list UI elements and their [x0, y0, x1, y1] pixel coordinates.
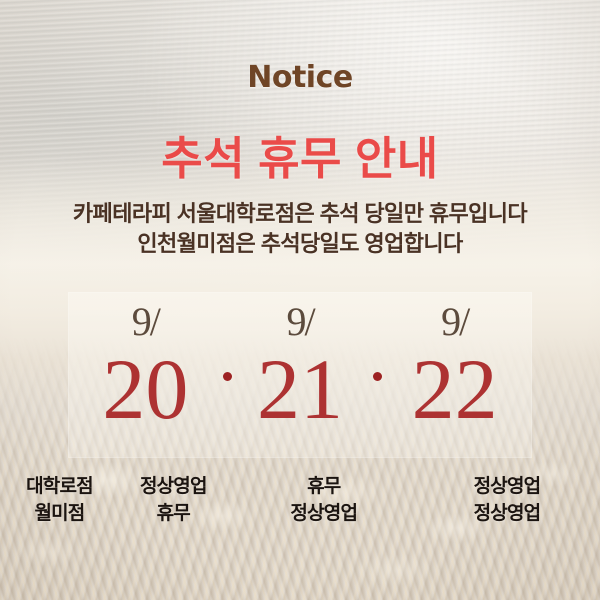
notice-poster: Notice 추석 휴무 안내 카페테라피 서울대학로점은 추석 당일만 휴무입…: [0, 0, 600, 600]
status-0920-wolmi: 휴무: [113, 500, 234, 527]
date-row: 9/ 20 9/ 21 9/ 22: [68, 292, 532, 458]
notice-body-line-1: 카페테라피 서울대학로점은 추석 당일만 휴무입니다: [0, 199, 600, 229]
status-0920-daehangno: 정상영업: [113, 473, 234, 500]
status-column-branches: 대학로점 월미점: [0, 473, 113, 527]
date-cell-1: 9/ 20: [68, 292, 223, 458]
branch-label-2: 월미점: [6, 500, 113, 527]
notice-kicker: Notice: [0, 60, 600, 95]
poster-content: Notice 추석 휴무 안내 카페테라피 서울대학로점은 추석 당일만 휴무입…: [0, 0, 600, 600]
status-column-0921: 휴무 정상영업: [234, 473, 414, 527]
date-month-1: 9/: [68, 302, 223, 342]
notice-body: 카페테라피 서울대학로점은 추석 당일만 휴무입니다 인천월미점은 추석당일도 …: [0, 199, 600, 259]
date-cell-3: 9/ 22: [377, 292, 532, 458]
status-0921-daehangno: 휴무: [234, 473, 414, 500]
separator-dot-1-icon: [223, 372, 232, 381]
status-column-0920: 정상영업 휴무: [113, 473, 234, 527]
date-day-2: 21: [223, 346, 378, 432]
status-0922-daehangno: 정상영업: [414, 473, 600, 500]
date-cell-2: 9/ 21: [223, 292, 378, 458]
branch-label-1: 대학로점: [6, 473, 113, 500]
separator-dot-2-icon: [373, 372, 382, 381]
page-title: 추석 휴무 안내: [0, 122, 600, 187]
status-column-0922: 정상영업 정상영업: [414, 473, 600, 527]
status-0922-wolmi: 정상영업: [414, 500, 600, 527]
date-day-3: 22: [377, 346, 532, 432]
date-month-2: 9/: [223, 302, 378, 342]
date-day-1: 20: [68, 346, 223, 432]
date-month-3: 9/: [377, 302, 532, 342]
notice-body-line-2: 인천월미점은 추석당일도 영업합니다: [0, 229, 600, 259]
status-grid: 대학로점 월미점 정상영업 휴무 휴무 정상영업 정상영업 정상영업: [0, 473, 600, 527]
status-0921-wolmi: 정상영업: [234, 500, 414, 527]
